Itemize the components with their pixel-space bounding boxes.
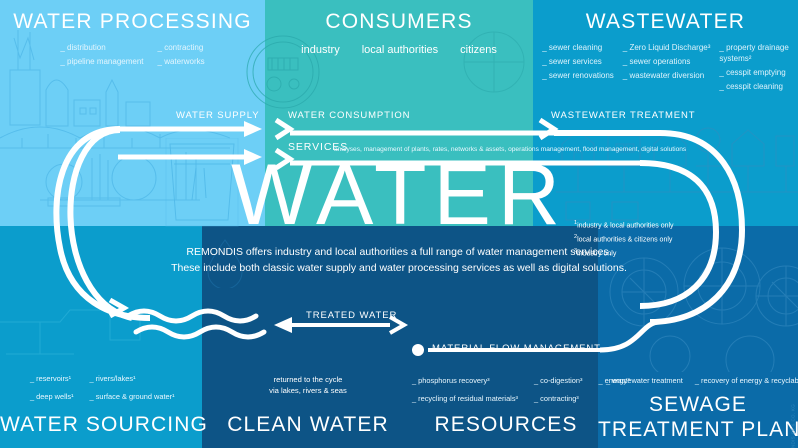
sewage-plants-title-line-2: TREATMENT PLANTS — [598, 417, 798, 442]
tag-column: _ rivers/lakes¹ _ surface & ground water… — [90, 372, 175, 408]
label-material-flow-management: MATERIAL FLOW MANAGEMENT — [432, 343, 601, 354]
clean-water-note-line-2: via lakes, rivers & seas — [248, 385, 368, 396]
label-water-supply: WATER SUPPLY — [176, 110, 259, 121]
tag-item: _ co-digestion³ — [534, 374, 582, 388]
label-treated-water: TREATED WATER — [306, 310, 397, 321]
label-water-consumption: WATER CONSUMPTION — [288, 110, 410, 121]
copyright-text: © 2019 REMONDIS SE & CO. KG — [791, 404, 796, 448]
footnote-item: 3industry only — [574, 246, 744, 260]
intro-line-2: These include both classic water supply … — [162, 260, 636, 276]
intro-line-1: REMONDIS offers industry and local autho… — [162, 244, 636, 260]
intro-paragraph: REMONDIS offers industry and local autho… — [162, 244, 636, 276]
tag-column: _ phosphorus recovery³ _ recycling of re… — [412, 374, 518, 410]
water-sourcing-title: WATER SOURCING — [0, 412, 202, 437]
tag-column: _ co-digestion³ _ contracting³ — [534, 374, 582, 410]
tag-column: _ reservoirs¹ _ deep wells¹ — [30, 372, 74, 408]
clean-water-title: CLEAN WATER — [202, 412, 414, 437]
tag-item: _ phosphorus recovery³ — [412, 374, 518, 388]
clean-water-note: returned to the cycle via lakes, rivers … — [248, 374, 368, 396]
footnote-text: local authorities & citizens only — [577, 236, 672, 243]
footnotes: 1industry & local authorities only 2loca… — [574, 218, 744, 259]
sewage-plants-title-line-1: SEWAGE — [598, 392, 798, 417]
arrow-water-supply — [118, 121, 262, 137]
resources-title: RESOURCES — [414, 412, 598, 437]
tag-item: _ deep wells¹ — [30, 390, 74, 404]
footnote-item: 2local authorities & citizens only — [574, 232, 744, 246]
footnote-item: 1industry & local authorities only — [574, 218, 744, 232]
sewage-plants-title: SEWAGE TREATMENT PLANTS — [598, 392, 798, 442]
tag-column: _ recovery of energy & recyclables — [695, 374, 798, 392]
tag-item: _ wastewater treatment — [606, 374, 683, 388]
tag-item: _ recovery of energy & recyclables — [695, 374, 798, 388]
footnote-text: industry & local authorities only — [577, 222, 674, 229]
footnote-text: industry only — [577, 250, 616, 257]
water-sourcing-tags: _ reservoirs¹ _ deep wells¹ _ rivers/lak… — [30, 372, 175, 408]
arrow-water-consumption — [276, 120, 560, 138]
tag-item: _ rivers/lakes¹ — [90, 372, 175, 386]
tag-item: _ contracting³ — [534, 392, 582, 406]
water-wave-icon — [128, 311, 264, 337]
tag-item: _ recycling of residual materials³ — [412, 392, 518, 406]
tag-item: _ reservoirs¹ — [30, 372, 74, 386]
infographic-canvas: WATER PROCESSING _ distribution _ pipeli… — [0, 0, 798, 448]
sewage-plants-tags: _ wastewater treatment _ recovery of ene… — [606, 374, 798, 392]
clean-water-note-line-1: returned to the cycle — [248, 374, 368, 385]
tag-item: _ surface & ground water¹ — [90, 390, 175, 404]
tag-column: _ wastewater treatment — [606, 374, 683, 392]
label-wastewater-treatment: WASTEWATER TREATMENT — [551, 110, 696, 121]
